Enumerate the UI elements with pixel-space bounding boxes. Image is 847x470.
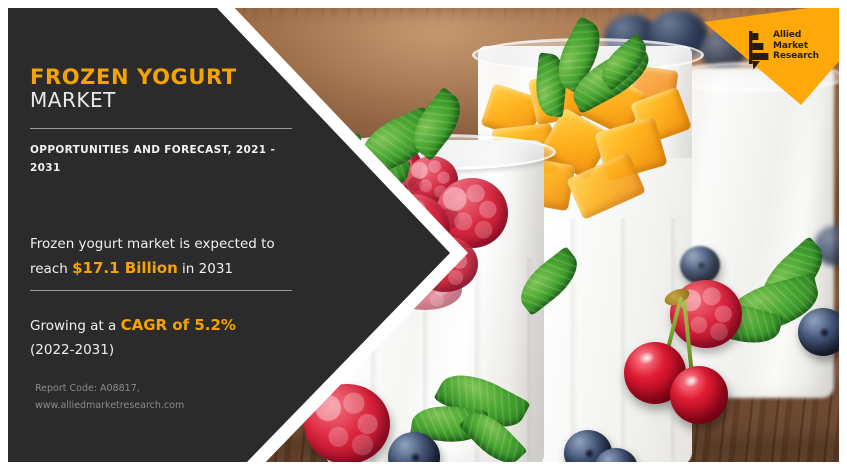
text-column: FROZEN YOGURT MARKET OPPORTUNITIES AND F… [30,0,300,470]
logo-wordmark: Allied Market Research [773,30,819,62]
page-title: FROZEN YOGURT MARKET [30,66,237,111]
cherry [670,366,728,424]
stat-market-value-trail: in 2031 [178,261,233,277]
divider-top [30,128,292,129]
report-code: Report Code: A08817, [35,381,295,398]
stat-cagr-lead: Growing at a [30,318,121,334]
allied-market-research-logo[interactable]: Allied Market Research [748,30,836,76]
logo-line-2: Market [773,41,819,52]
stat-market-value-figure: $17.1 Billion [72,259,178,277]
stat-cagr-figure: CAGR of 5.2% [121,316,236,334]
allied-market-research-bars-icon [748,30,772,70]
report-footnote: Report Code: A08817, www.alliedmarketres… [35,381,295,415]
logo-line-3: Research [773,51,819,62]
stat-cagr-period: (2022-2031) [30,342,114,358]
stat-market-value: Frozen yogurt market is expected to reac… [30,233,298,282]
logo-line-1: Allied [773,30,819,41]
title-plain: MARKET [30,90,237,111]
title-highlight: FROZEN YOGURT [30,66,237,88]
blueberry [680,246,720,284]
frozen-yogurt-market-infographic: FROZEN YOGURT MARKET OPPORTUNITIES AND F… [0,0,847,470]
report-website: www.alliedmarketresearch.com [35,398,295,415]
report-subtitle: OPPORTUNITIES AND FORECAST, 2021 - 2031 [30,141,295,177]
divider-middle [30,290,292,291]
stat-cagr: Growing at a CAGR of 5.2% (2022-2031) [30,313,298,362]
blueberry [798,308,840,356]
